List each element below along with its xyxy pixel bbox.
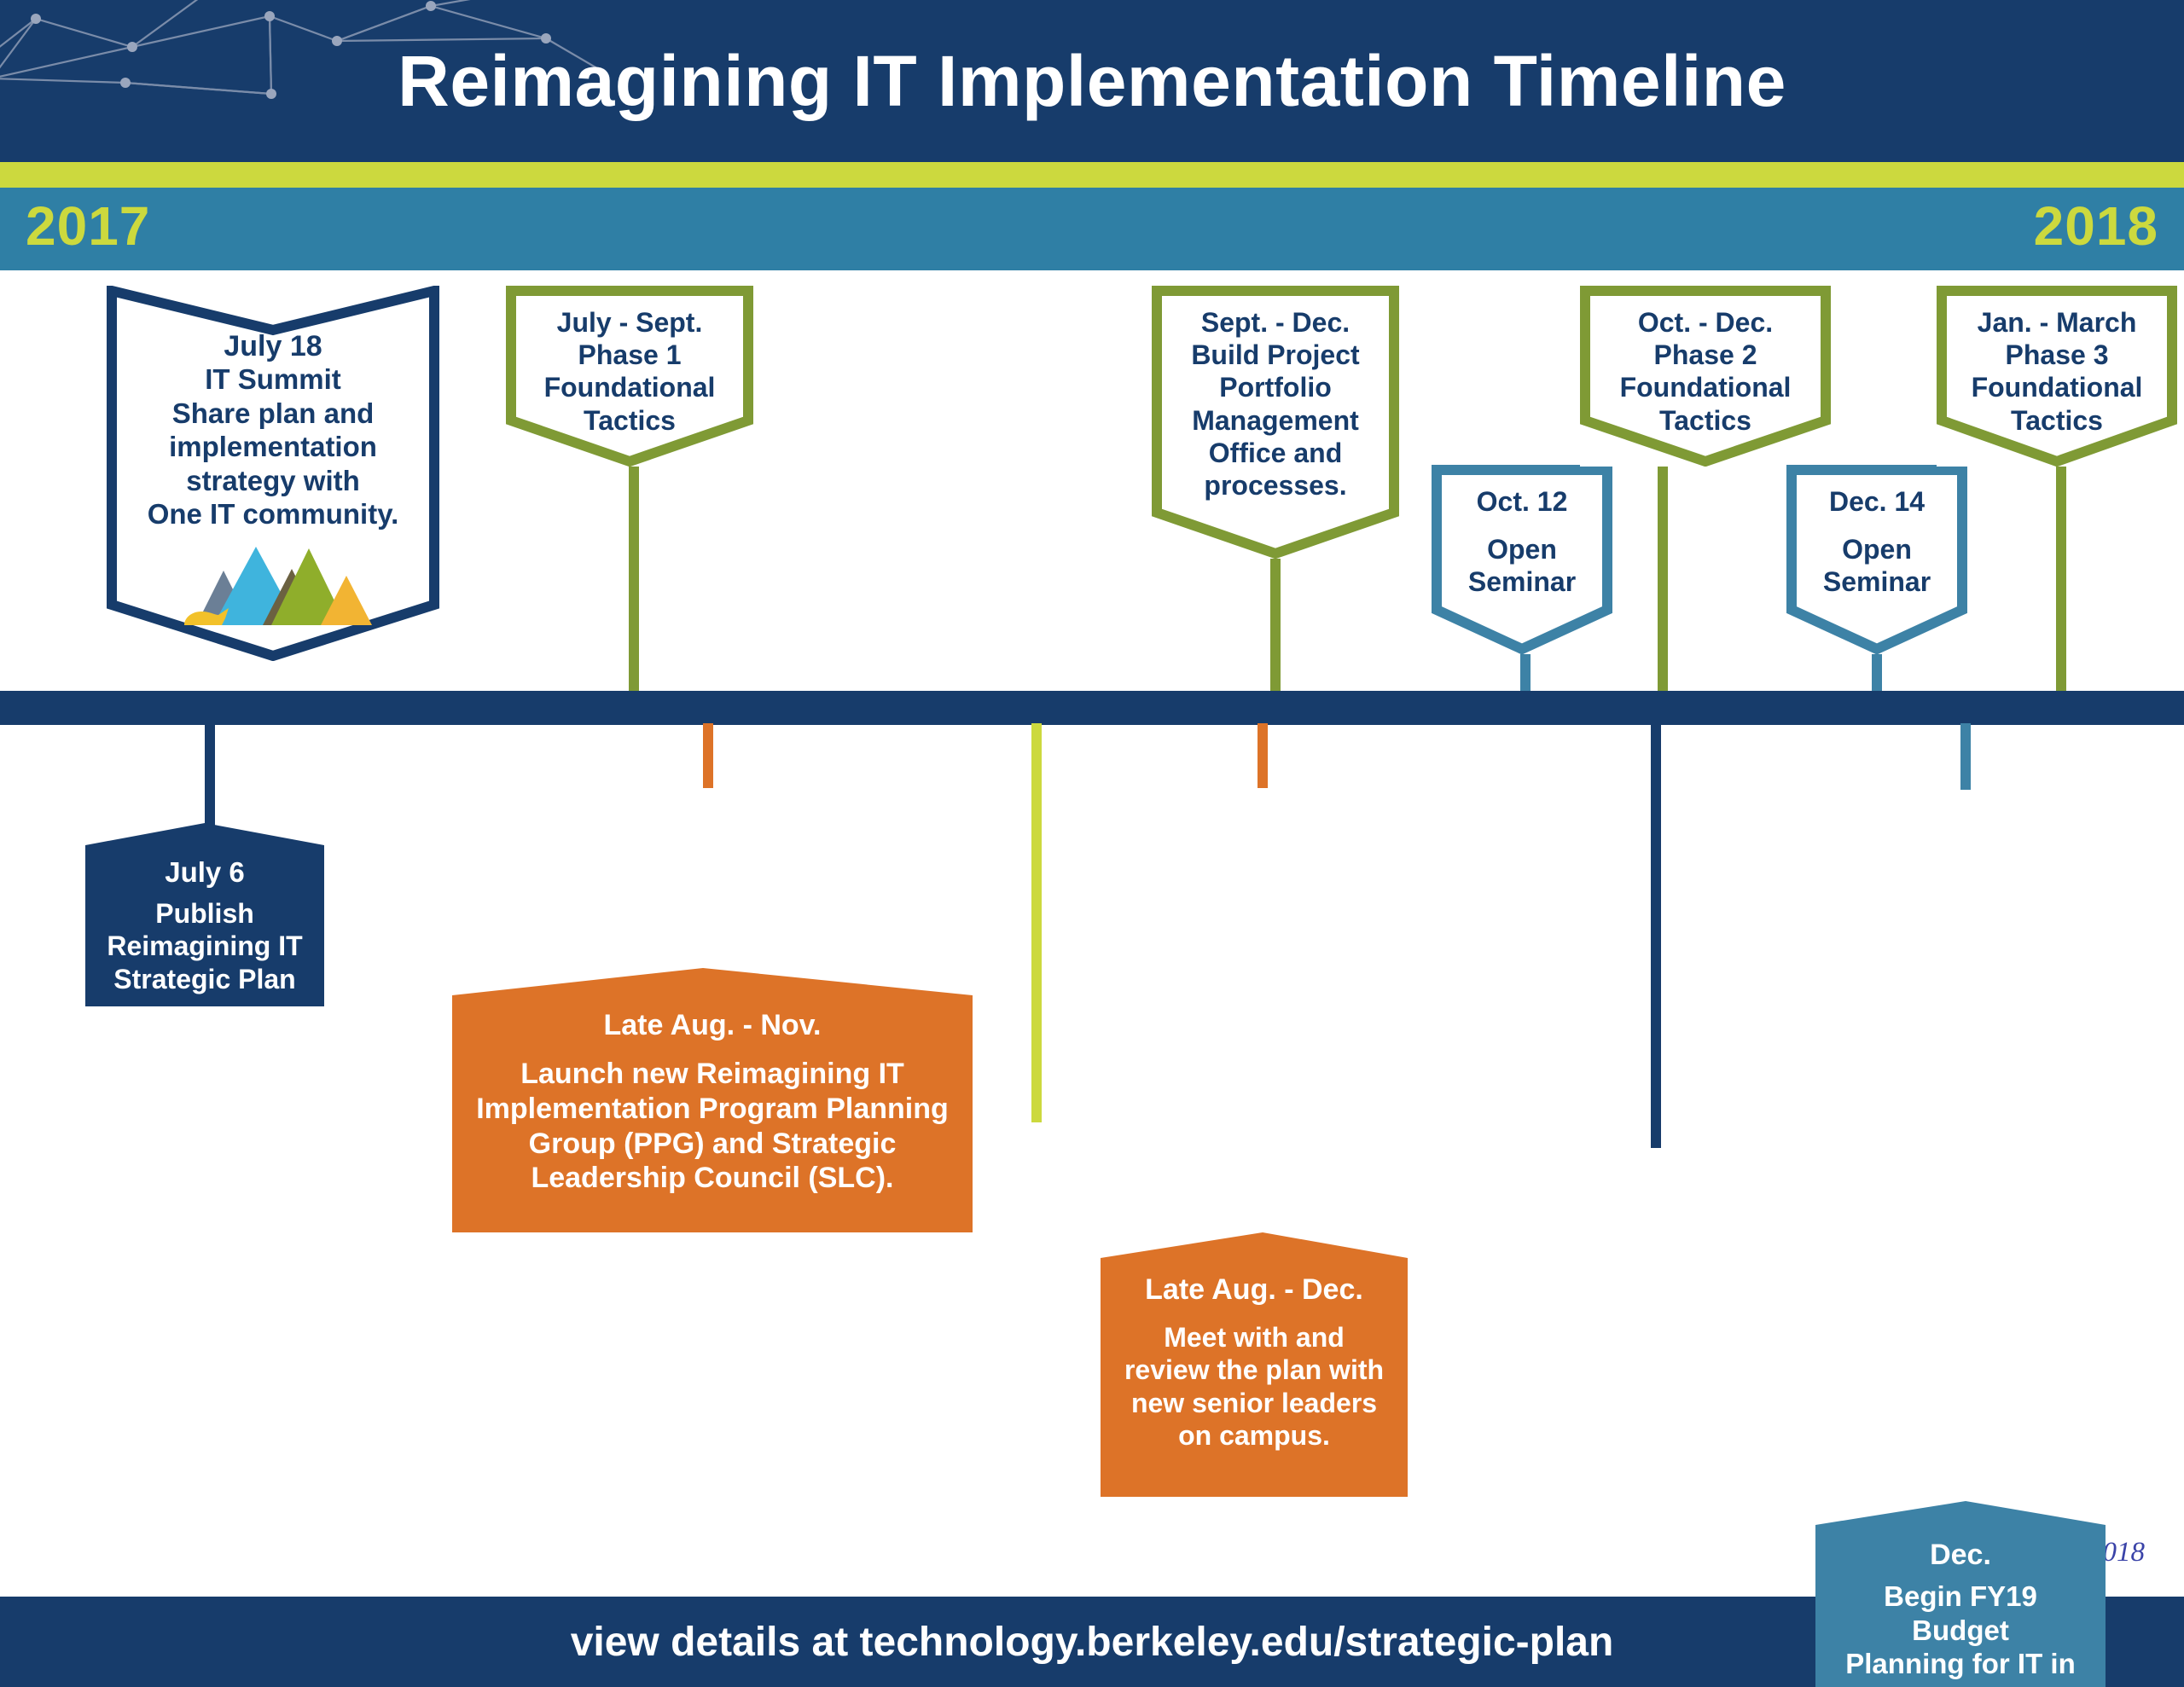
card-body-line: Foundational [1599, 371, 1812, 403]
card-body-line: Portfolio [1170, 371, 1380, 403]
card-body-line: new senior leaders [1121, 1387, 1387, 1419]
milestone-card-fy19-budget[interactable]: Dec. Begin FY19 Budget Planning for IT i… [1815, 1501, 2106, 1687]
card-body-line: Open [1805, 533, 1949, 565]
berkeley-mountains-icon [162, 536, 384, 625]
card-body-line: Phase 3 [1955, 339, 2158, 371]
card-body-line: Meet with and [1121, 1321, 1387, 1354]
card-body-line: Seminar [1450, 565, 1594, 598]
card-body: Phase 2 Foundational Tactics [1599, 339, 1812, 437]
card-heading: July 6 [106, 857, 304, 889]
header-lime-divider [0, 162, 2184, 188]
card-body: Phase 1 Foundational Tactics [525, 339, 735, 437]
card-body-line: strategy with [125, 464, 421, 498]
timeline-axis [0, 691, 2184, 725]
milestone-card-phase-3[interactable]: Jan. - March Phase 3 Foundational Tactic… [1937, 286, 2177, 467]
card-body: Meet with and review the plan with new s… [1121, 1321, 1387, 1452]
card-body-line: Seminar [1805, 565, 1949, 598]
stem-fy19-budget [1960, 723, 1971, 790]
stem-review-governance [1031, 723, 1042, 1122]
card-body-line: processes. [1170, 469, 1380, 501]
card-body-line: Implementation Program Planning [473, 1092, 952, 1127]
milestone-card-publish-plan[interactable]: July 6 Publish Reimagining IT Strategic … [85, 823, 324, 1006]
stem-build-pmo [1270, 554, 1281, 693]
page-title: Reimagining IT Implementation Timeline [0, 0, 2184, 162]
card-heading: July - Sept. [525, 308, 735, 339]
card-body-line: Tactics [525, 404, 735, 437]
milestone-card-open-seminar-oct[interactable]: Oct. 12 Open Seminar [1432, 465, 1612, 654]
card-body-line: Begin FY19 Budget [1836, 1580, 2085, 1647]
card-body-line: IT Summit [125, 362, 421, 397]
card-body-line: Reimagining IT [106, 930, 304, 962]
stem-meet-senior-leaders [1258, 723, 1268, 788]
card-body: Open Seminar [1805, 533, 1949, 599]
card-body: Publish Reimagining IT Strategic Plan [106, 897, 304, 995]
footer-link-text[interactable]: view details at technology.berkeley.edu/… [571, 1619, 1614, 1666]
card-body: Launch new Reimagining IT Implementation… [473, 1057, 952, 1196]
card-heading: Dec. 14 [1805, 487, 1949, 518]
card-heading: Jan. - March [1955, 308, 2158, 339]
card-body-line: Build Project [1170, 339, 1380, 371]
card-body-line: Planning for IT in [1836, 1647, 2085, 1681]
card-body-line: the context of the [1836, 1681, 2085, 1687]
stem-open-seminar-oct [1520, 648, 1531, 693]
card-body-line: One IT community. [125, 497, 421, 531]
year-band: 2017 2018 [0, 188, 2184, 270]
card-heading: Dec. [1836, 1539, 2085, 1571]
milestone-card-launch-ppg-slc[interactable]: Late Aug. - Nov. Launch new Reimagining … [452, 968, 973, 1232]
card-body-line: Share plan and [125, 397, 421, 431]
card-body-line: review the plan with [1121, 1354, 1387, 1386]
card-body-line: Foundational [525, 371, 735, 403]
card-heading: Oct. - Dec. [1599, 308, 1812, 339]
card-body-line: Tactics [1599, 404, 1812, 437]
stem-phase-1 [629, 465, 639, 693]
year-label-end: 2018 [2034, 194, 2158, 258]
card-body-line: Launch new Reimagining IT [473, 1057, 952, 1092]
stem-publish-plan [205, 723, 215, 827]
card-heading: Oct. 12 [1450, 487, 1594, 518]
stem-phase-3 [2056, 465, 2066, 693]
card-body-line: Phase 2 [1599, 339, 1812, 371]
milestone-card-phase-1[interactable]: July - Sept. Phase 1 Foundational Tactic… [506, 286, 753, 467]
milestone-card-build-pmo[interactable]: Sept. - Dec. Build Project Portfolio Man… [1152, 286, 1399, 559]
page-header: Reimagining IT Implementation Timeline [0, 0, 2184, 162]
card-heading: July 18 [125, 330, 421, 362]
card-body-line: implementation [125, 430, 421, 464]
card-body: Phase 3 Foundational Tactics [1955, 339, 2158, 437]
timeline-infographic: Reimagining IT Implementation Timeline 2… [0, 0, 2184, 1687]
stem-open-seminar-dec [1872, 648, 1882, 693]
card-body-line: Group (PPG) and Strategic [473, 1127, 952, 1162]
milestone-card-it-summit[interactable]: July 18 IT Summit Share plan and impleme… [107, 286, 439, 661]
card-body-line: Tactics [1955, 404, 2158, 437]
card-body-line: Foundational [1955, 371, 2158, 403]
milestone-card-open-seminar-dec[interactable]: Dec. 14 Open Seminar [1786, 465, 1967, 654]
card-heading: Late Aug. - Dec. [1121, 1273, 1387, 1306]
stem-success-metrics [1651, 723, 1661, 1148]
stem-launch-ppg-slc [703, 723, 713, 788]
milestone-card-phase-2[interactable]: Oct. - Dec. Phase 2 Foundational Tactics [1580, 286, 1831, 467]
milestone-card-meet-senior-leaders[interactable]: Late Aug. - Dec. Meet with and review th… [1101, 1232, 1408, 1497]
card-body-line: Management [1170, 404, 1380, 437]
card-body-line: Open [1450, 533, 1594, 565]
card-body-line: Publish [106, 897, 304, 930]
card-body-line: Strategic Plan [106, 963, 304, 995]
card-heading: Sept. - Dec. [1170, 308, 1380, 339]
card-body-line: Leadership Council (SLC). [473, 1161, 952, 1196]
card-body: Begin FY19 Budget Planning for IT in the… [1836, 1580, 2085, 1687]
stem-phase-2 [1658, 465, 1668, 693]
card-body: Build Project Portfolio Management Offic… [1170, 339, 1380, 502]
year-label-start: 2017 [26, 194, 150, 258]
card-heading: Late Aug. - Nov. [473, 1009, 952, 1041]
card-body: Open Seminar [1450, 533, 1594, 599]
card-body-line: Phase 1 [525, 339, 735, 371]
card-body: IT Summit Share plan and implementation … [125, 362, 421, 531]
card-body-line: Office and [1170, 437, 1380, 469]
card-body-line: on campus. [1121, 1419, 1387, 1452]
